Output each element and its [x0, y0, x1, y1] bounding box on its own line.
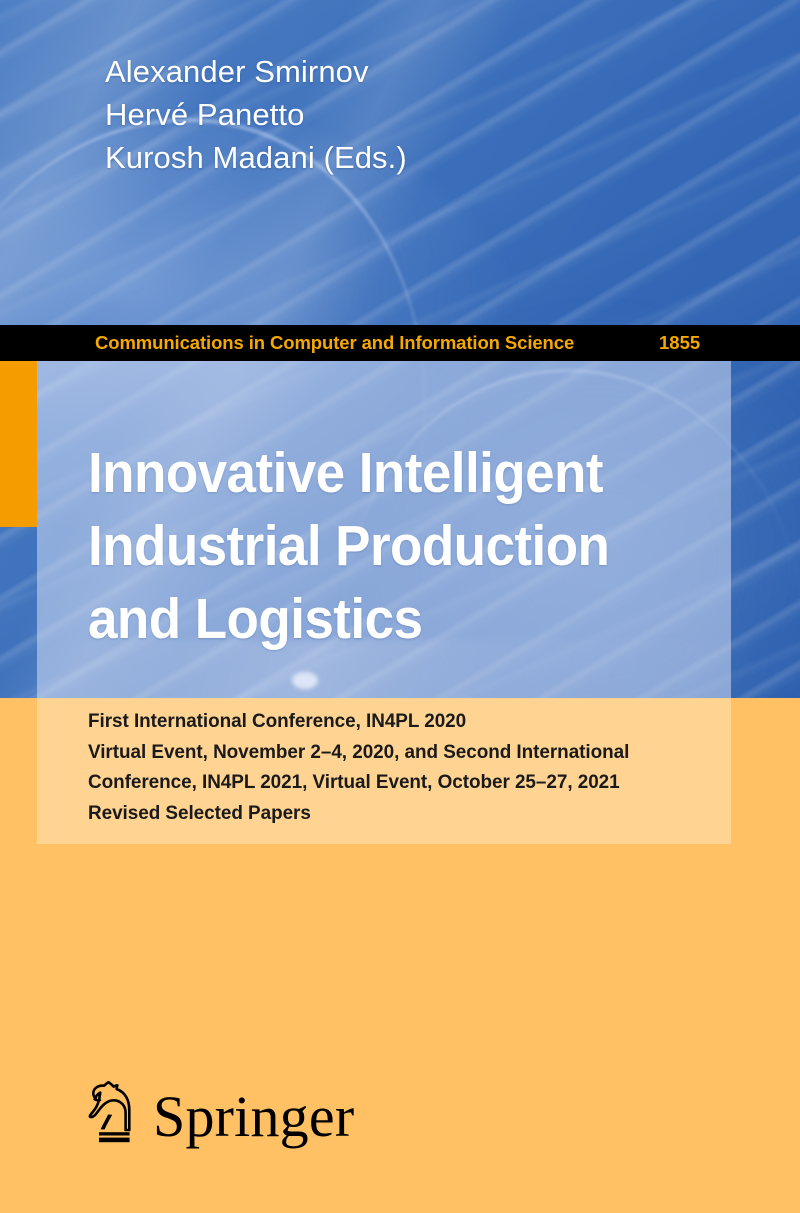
title-line-2: Industrial Production [88, 510, 683, 583]
publisher-logo: Springer [84, 1078, 354, 1148]
title-line-3: and Logistics [88, 583, 683, 656]
editor-name-1: Alexander Smirnov [105, 50, 407, 93]
subtitle-line-1: First International Conference, IN4PL 20… [88, 706, 728, 737]
editor-name-3: Kurosh Madani (Eds.) [105, 136, 407, 179]
subtitle-line-3: Conference, IN4PL 2021, Virtual Event, O… [88, 767, 728, 798]
editor-name-2: Hervé Panetto [105, 93, 407, 136]
series-banner: Communications in Computer and Informati… [0, 325, 800, 361]
book-cover: Alexander Smirnov Hervé Panetto Kurosh M… [0, 0, 800, 1213]
spine-accent-block [0, 361, 37, 527]
page-title: Innovative Intelligent Industrial Produc… [88, 437, 728, 656]
springer-knight-icon [84, 1078, 140, 1148]
title-line-1: Innovative Intelligent [88, 437, 683, 510]
subtitle-line-2: Virtual Event, November 2–4, 2020, and S… [88, 737, 728, 768]
series-name: Communications in Computer and Informati… [95, 332, 574, 354]
series-volume-number: 1855 [659, 332, 700, 354]
editors-block: Alexander Smirnov Hervé Panetto Kurosh M… [105, 50, 407, 179]
publisher-name: Springer [153, 1088, 354, 1146]
subtitle-line-4: Revised Selected Papers [88, 798, 728, 829]
subtitle-block: First International Conference, IN4PL 20… [88, 706, 748, 828]
